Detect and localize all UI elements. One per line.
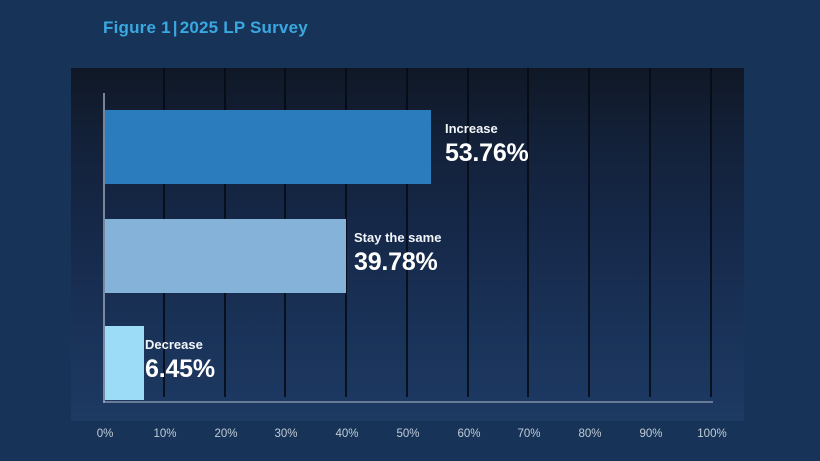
x-tick-90: 90% (639, 428, 662, 440)
gridline-100 (710, 68, 712, 397)
figure-title-text: 2025 LP Survey (180, 18, 308, 37)
bar-increase[interactable] (105, 110, 431, 184)
bar-value-label: 6.45% (145, 357, 215, 382)
gridline-90 (649, 68, 651, 397)
x-tick-20: 20% (214, 428, 237, 440)
bar-value-label: 39.78% (354, 250, 441, 275)
bar-decrease[interactable] (105, 326, 144, 400)
x-tick-30: 30% (274, 428, 297, 440)
x-axis-tick-labels: 0% 10% 20% 30% 40% 50% 60% 70% 80% 90% 1… (71, 428, 744, 448)
chart-panel: Increase 53.76% Stay the same 39.78% Dec… (71, 68, 744, 421)
x-tick-60: 60% (457, 428, 480, 440)
x-tick-40: 40% (335, 428, 358, 440)
x-tick-70: 70% (517, 428, 540, 440)
figure-title-prefix: Figure 1 (103, 18, 171, 37)
x-tick-10: 10% (153, 428, 176, 440)
bar-label-increase: Increase 53.76% (445, 122, 529, 166)
bar-category-label: Increase (445, 122, 529, 135)
x-tick-80: 80% (578, 428, 601, 440)
bar-value-label: 53.76% (445, 141, 529, 166)
gridline-60 (467, 68, 469, 397)
gridline-80 (588, 68, 590, 397)
bar-category-label: Decrease (145, 338, 215, 351)
page-title: Figure 1|2025 LP Survey (103, 18, 308, 38)
bar-stay-the-same[interactable] (105, 219, 346, 293)
bar-label-stay-the-same: Stay the same 39.78% (354, 231, 441, 275)
figure-title-separator: | (171, 18, 180, 37)
x-tick-100: 100% (697, 428, 726, 440)
x-tick-0: 0% (97, 428, 114, 440)
bar-category-label: Stay the same (354, 231, 441, 244)
x-axis-line (103, 401, 713, 403)
x-tick-50: 50% (396, 428, 419, 440)
bar-label-decrease: Decrease 6.45% (145, 338, 215, 382)
plot-area: Increase 53.76% Stay the same 39.78% Dec… (71, 68, 744, 421)
gridline-70 (527, 68, 529, 397)
